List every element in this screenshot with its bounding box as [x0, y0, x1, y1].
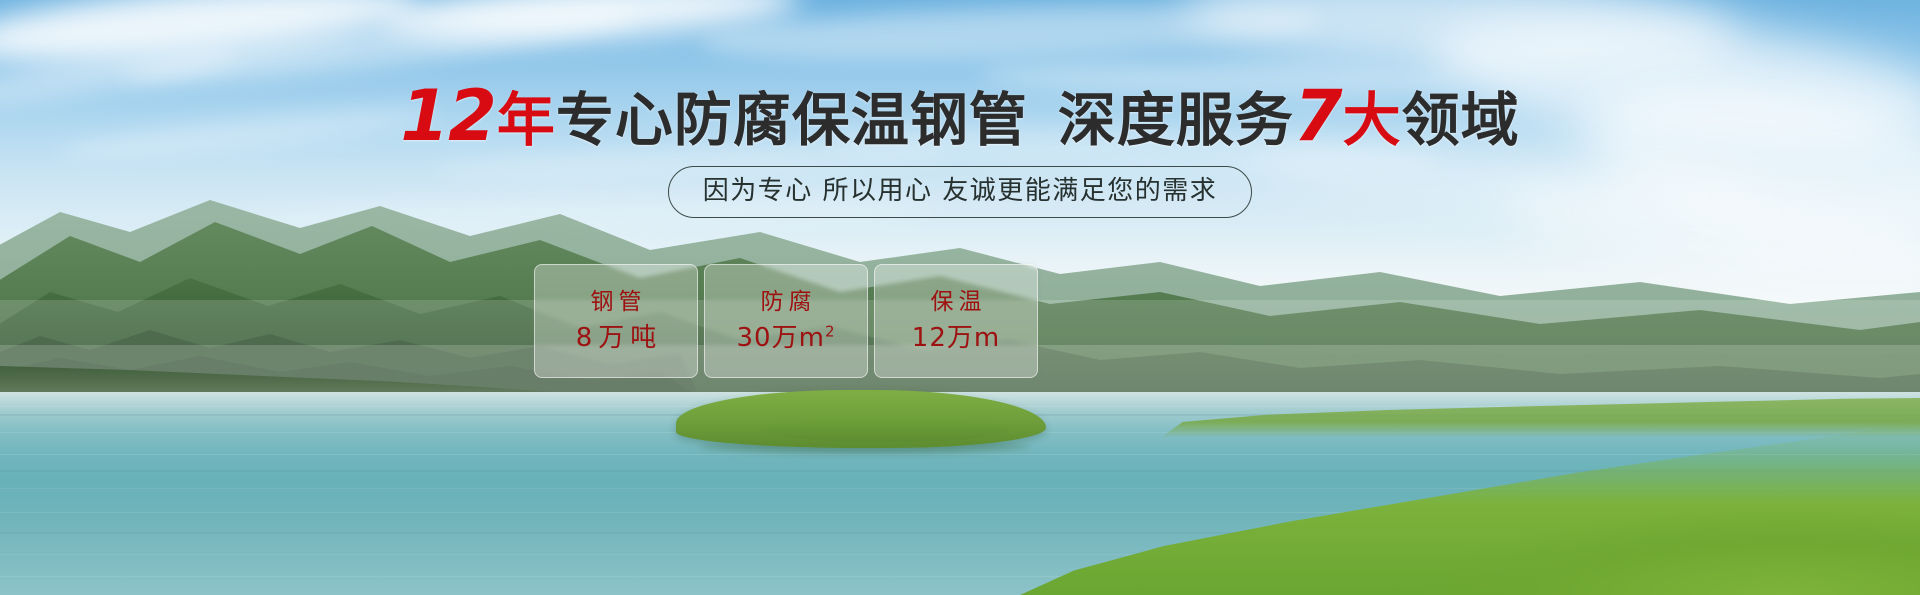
headline-fields-number: 7 — [1294, 75, 1343, 157]
headline-fields-unit: 大 — [1343, 86, 1402, 154]
stat-card-label: 保温 — [926, 289, 987, 315]
subtitle-container: 因为专心 所以用心 友诚更能满足您的需求 — [0, 166, 1920, 218]
stat-card-value-superscript: 2 — [825, 322, 836, 340]
headline: 12年专心防腐保温钢管深度服务7大领域 — [0, 84, 1920, 152]
stat-card-value: 12万m — [912, 323, 1000, 353]
stat-card-value: 30万m2 — [737, 323, 836, 353]
headline-years-number: 12 — [400, 75, 496, 157]
subtitle-pill: 因为专心 所以用心 友诚更能满足您的需求 — [668, 166, 1253, 218]
stat-card-value: 8万吨 — [570, 323, 663, 353]
headline-years-unit: 年 — [497, 86, 556, 154]
stat-card-anticorrosion[interactable]: 防腐 30万m2 — [704, 264, 868, 378]
grass-islet-lower — [760, 418, 1010, 442]
hero-banner: 12年专心防腐保温钢管深度服务7大领域 因为专心 所以用心 友诚更能满足您的需求… — [0, 0, 1920, 595]
headline-service-text: 深度服务 — [1058, 86, 1294, 154]
headline-main-text: 专心防腐保温钢管 — [556, 86, 1028, 154]
headline-tail-text: 领域 — [1402, 86, 1520, 154]
stat-card-steel-pipe[interactable]: 钢管 8万吨 — [534, 264, 698, 378]
stat-card-insulation[interactable]: 保温 12万m — [874, 264, 1038, 378]
stat-card-group: 钢管 8万吨 防腐 30万m2 保温 12万m — [534, 264, 1038, 378]
stat-card-label: 防腐 — [756, 289, 817, 315]
stat-card-label: 钢管 — [586, 289, 647, 315]
